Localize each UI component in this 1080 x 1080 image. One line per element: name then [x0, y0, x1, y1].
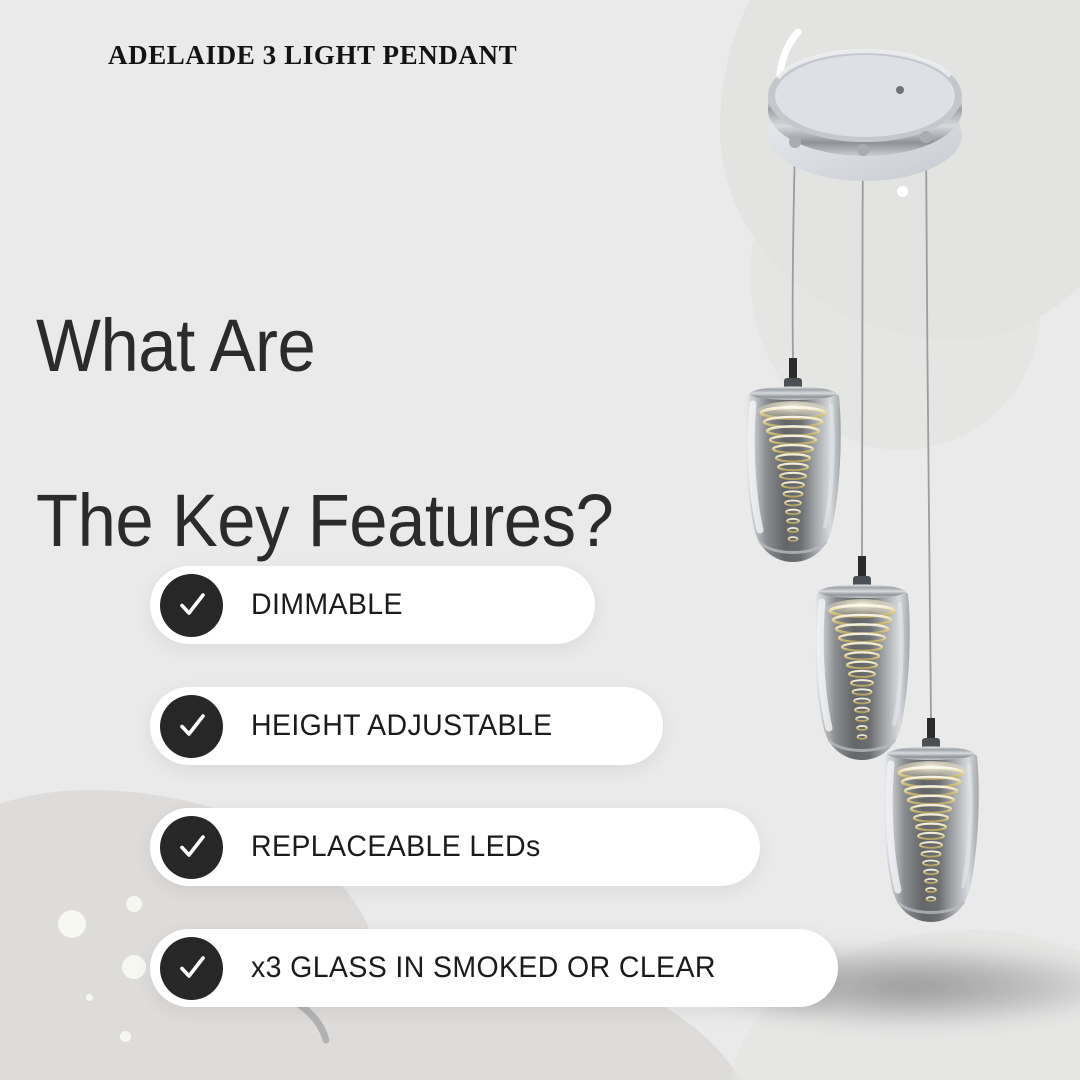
decor-dot-4 [86, 994, 93, 1001]
check-icon [160, 574, 223, 637]
decor-dot-3 [122, 955, 146, 979]
poster-canvas: ADELAIDE 3 LIGHT PENDANT What Are The Ke… [0, 0, 1080, 1080]
feature-pill[interactable]: HEIGHT ADJUSTABLE [150, 687, 663, 765]
feature-label: REPLACEABLE LEDs [251, 830, 541, 864]
feature-list: DIMMABLEHEIGHT ADJUSTABLEREPLACEABLE LED… [150, 566, 838, 1050]
check-icon [160, 695, 223, 758]
ceiling-plate [768, 50, 962, 181]
headline-line-1: What Are [36, 302, 613, 389]
headline-line-2: The Key Features? [36, 477, 613, 564]
feature-label: x3 GLASS IN SMOKED OR CLEAR [251, 951, 716, 985]
feature-pill[interactable]: x3 GLASS IN SMOKED OR CLEAR [150, 929, 838, 1007]
pendant-shade-1 [745, 358, 840, 562]
feature-label: HEIGHT ADJUSTABLE [251, 709, 553, 743]
decor-dot-5 [120, 1031, 131, 1042]
pendant-shade-3 [883, 718, 978, 922]
feature-label: DIMMABLE [251, 588, 403, 622]
check-icon [160, 937, 223, 1000]
decor-dot-2 [126, 896, 142, 912]
feature-pill[interactable]: DIMMABLE [150, 566, 595, 644]
product-title: ADELAIDE 3 LIGHT PENDANT [108, 40, 517, 71]
decor-dot-1 [58, 910, 86, 938]
check-icon [160, 816, 223, 879]
feature-pill[interactable]: REPLACEABLE LEDs [150, 808, 760, 886]
